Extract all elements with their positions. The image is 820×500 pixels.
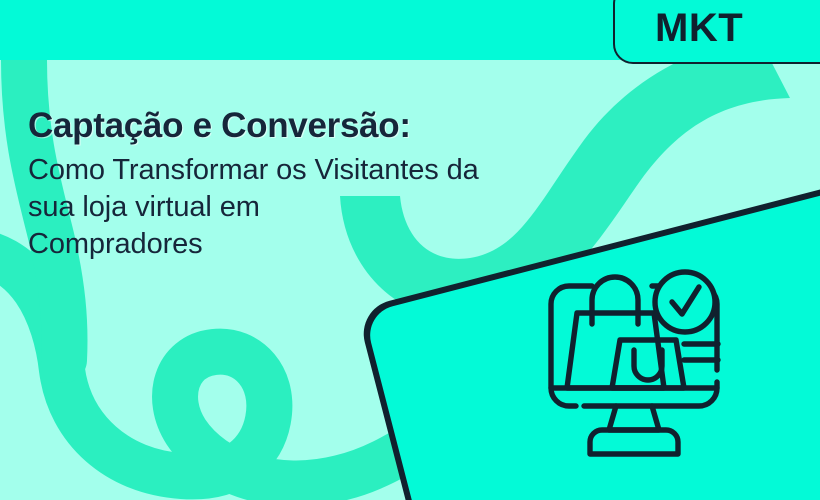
subline-2: sua loja virtual em — [28, 189, 598, 226]
mkt-badge-label: MKT — [655, 4, 743, 52]
large-bag-handle — [592, 277, 638, 324]
checkmark-circle — [655, 272, 715, 332]
headline: Captação e Conversão: — [28, 104, 598, 148]
monitor-stand-neck — [609, 406, 659, 430]
subline-1: Como Transformar os Visitantes da — [28, 152, 598, 189]
text-block: Captação e Conversão: Como Transformar o… — [28, 104, 598, 263]
ecommerce-monitor-icon — [524, 262, 756, 462]
webinar-banner: WEBINAR MKT Captação e Conversão: Como T… — [0, 0, 820, 500]
subline-3: Compradores — [28, 226, 598, 263]
monitor-stand-base — [590, 430, 678, 454]
